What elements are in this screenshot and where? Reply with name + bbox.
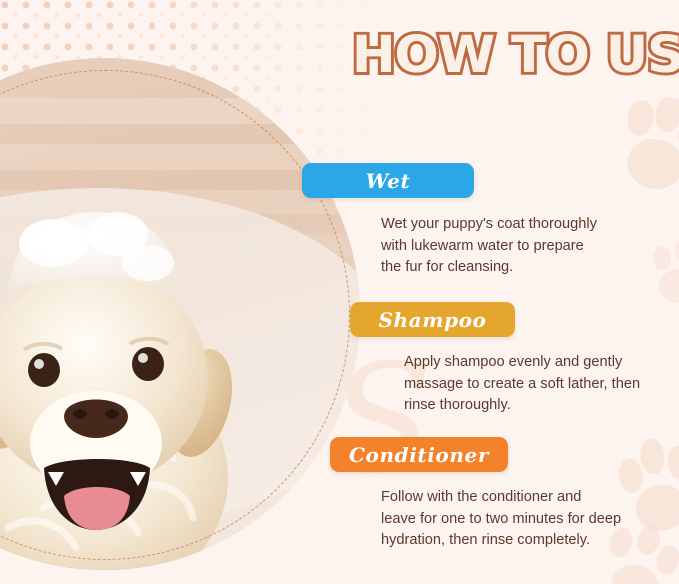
paw-print-icon <box>648 240 679 310</box>
puppy-bath-photo <box>0 58 360 570</box>
paw-print-icon <box>594 86 679 214</box>
step-badge-conditioner[interactable]: Conditioner <box>330 437 508 472</box>
step-badge-wet-label: Wet <box>366 169 411 193</box>
step-description-wet: Wet your puppy's coat thoroughly with lu… <box>381 214 651 279</box>
infographic-canvas: S <box>0 0 679 584</box>
step-badge-conditioner-label: Conditioner <box>349 443 489 467</box>
step-badge-shampoo-label: Shampoo <box>379 308 487 332</box>
step-description-conditioner: Follow with the conditioner and leave fo… <box>381 487 651 552</box>
step-badge-shampoo[interactable]: Shampoo <box>350 302 515 337</box>
step-description-shampoo: Apply shampoo evenly and gently massage … <box>404 352 666 417</box>
page-title-fill: HOW TO USE <box>352 25 658 87</box>
step-badge-wet[interactable]: Wet <box>302 163 474 198</box>
